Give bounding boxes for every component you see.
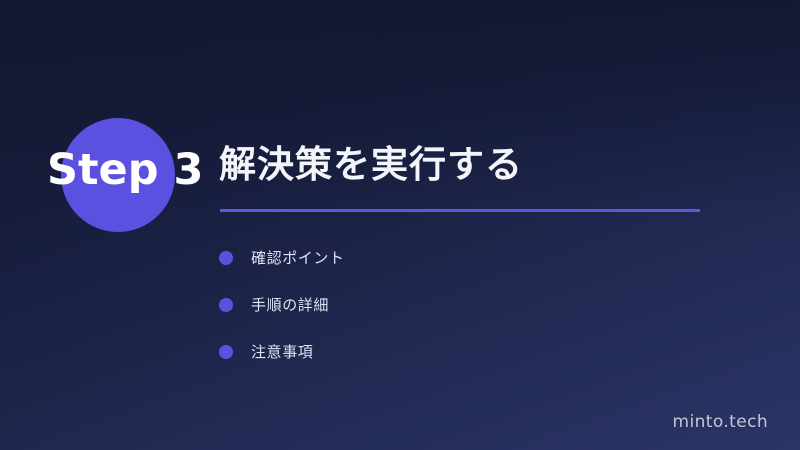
bullet-dot-icon	[219, 298, 233, 312]
list-item-label: 確認ポイント	[251, 247, 345, 268]
step-badge-label: Step 3	[47, 149, 203, 192]
bullet-list: 確認ポイント 手順の詳細 注意事項	[219, 234, 699, 375]
bullet-dot-icon	[219, 345, 233, 359]
list-item: 確認ポイント	[219, 234, 699, 281]
slide-canvas: Step 3 解決策を実行する 確認ポイント 手順の詳細 注意事項 minto.…	[0, 0, 800, 450]
list-item-label: 手順の詳細	[251, 294, 329, 315]
list-item-label: 注意事項	[251, 341, 313, 362]
list-item: 手順の詳細	[219, 281, 699, 328]
list-item: 注意事項	[219, 328, 699, 375]
title-divider	[220, 209, 700, 212]
bullet-dot-icon	[219, 251, 233, 265]
footer-watermark: minto.tech	[673, 412, 768, 432]
slide-title: 解決策を実行する	[219, 145, 523, 186]
